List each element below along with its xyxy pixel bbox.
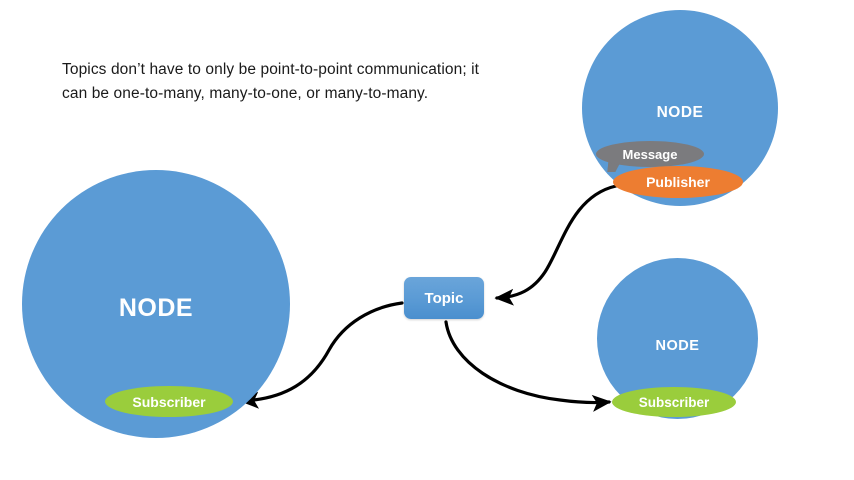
node-top-right-label: NODE xyxy=(582,104,778,122)
publisher-pill[interactable]: Publisher xyxy=(613,166,743,198)
message-bubble[interactable]: Message xyxy=(596,141,704,167)
arrow-topic-to-bottomright-subscriber xyxy=(446,322,609,403)
node-bottom-right-label: NODE xyxy=(597,338,758,354)
topic-box[interactable]: Topic xyxy=(404,277,484,319)
subscriber-pill-left-label: Subscriber xyxy=(132,394,205,410)
topic-box-label: Topic xyxy=(425,290,464,307)
caption-text: Topics don’t have to only be point-to-po… xyxy=(62,58,482,106)
subscriber-pill-bottom-right-label: Subscriber xyxy=(639,395,710,410)
diagram-canvas: Topics don’t have to only be point-to-po… xyxy=(0,0,854,480)
node-left-label: NODE xyxy=(22,294,290,323)
subscriber-pill-bottom-right[interactable]: Subscriber xyxy=(612,387,736,417)
message-bubble-label: Message xyxy=(623,147,678,162)
publisher-pill-label: Publisher xyxy=(646,174,710,190)
arrow-publisher-to-topic xyxy=(497,186,616,298)
subscriber-pill-left[interactable]: Subscriber xyxy=(105,386,233,417)
